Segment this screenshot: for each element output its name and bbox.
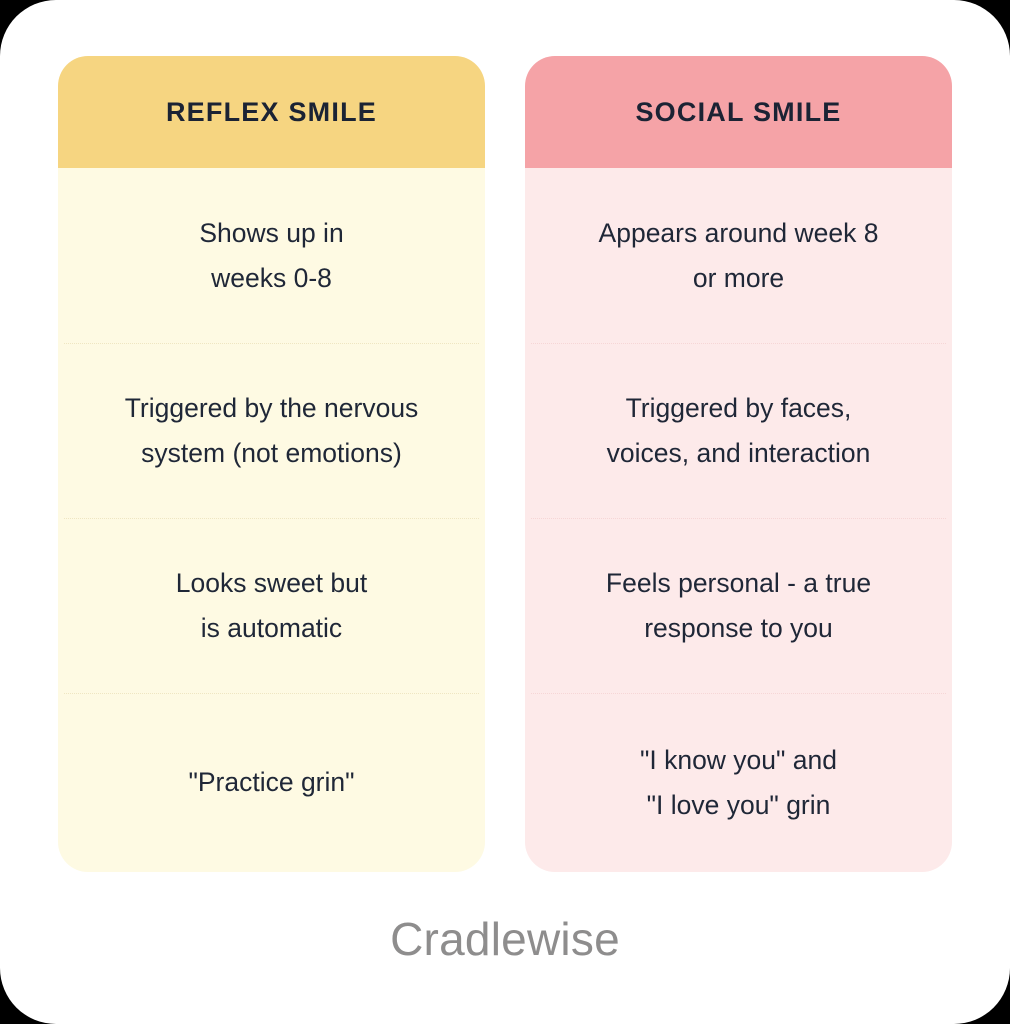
table-row: "Practice grin" (58, 693, 485, 872)
column-header-reflex-smile: REFLEX SMILE (58, 56, 485, 168)
infographic-page: REFLEX SMILE Shows up inweeks 0-8 Trigge… (0, 0, 1010, 1024)
comparison-column-social-smile: SOCIAL SMILE Appears around week 8or mor… (525, 56, 952, 872)
column-body-social-smile: Appears around week 8or more Triggered b… (525, 168, 952, 872)
table-row: Triggered by faces,voices, and interacti… (525, 343, 952, 518)
table-row: Triggered by the nervoussystem (not emot… (58, 343, 485, 518)
table-row: Feels personal - a trueresponse to you (525, 518, 952, 693)
brand-wordmark: Cradlewise (0, 912, 1010, 966)
table-row: Shows up inweeks 0-8 (58, 168, 485, 343)
table-row: Appears around week 8or more (525, 168, 952, 343)
table-row: "I know you" and"I love you" grin (525, 693, 952, 872)
column-header-social-smile: SOCIAL SMILE (525, 56, 952, 168)
comparison-table: REFLEX SMILE Shows up inweeks 0-8 Trigge… (58, 56, 952, 872)
comparison-column-reflex-smile: REFLEX SMILE Shows up inweeks 0-8 Trigge… (58, 56, 485, 872)
column-body-reflex-smile: Shows up inweeks 0-8 Triggered by the ne… (58, 168, 485, 872)
table-row: Looks sweet butis automatic (58, 518, 485, 693)
